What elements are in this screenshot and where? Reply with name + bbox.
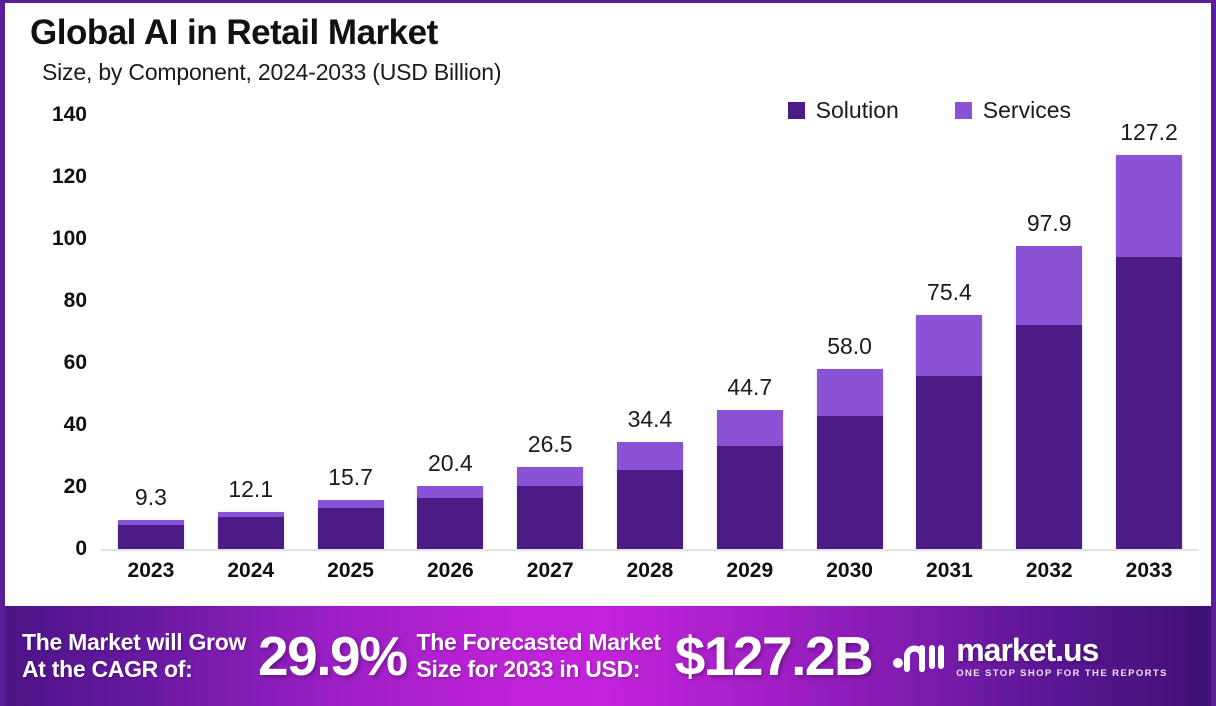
bar-value-label: 15.7 bbox=[328, 464, 373, 491]
header: Global AI in Retail Market Size, by Comp… bbox=[5, 3, 1211, 86]
bar-column-2030[interactable]: 58.0 bbox=[800, 115, 900, 549]
bar-column-2031[interactable]: 75.4 bbox=[900, 115, 1000, 549]
bar-column-2025[interactable]: 15.7 bbox=[301, 115, 401, 549]
forecast-caption: The Forecasted Market Size for 2033 in U… bbox=[417, 629, 661, 683]
x-axis-tick-label: 2024 bbox=[201, 559, 301, 583]
x-axis-tick-label: 2030 bbox=[800, 559, 900, 583]
plot-area: 9.312.115.720.426.534.444.758.075.497.91… bbox=[101, 115, 1199, 549]
stacked-bar[interactable] bbox=[118, 520, 184, 549]
bar-value-label: 9.3 bbox=[135, 484, 167, 511]
forecast-caption-line2: Size for 2033 in USD: bbox=[417, 656, 641, 682]
x-axis-tick-label: 2026 bbox=[400, 559, 500, 583]
y-axis-tick-label: 120 bbox=[52, 165, 87, 189]
x-axis-tick-label: 2023 bbox=[101, 559, 201, 583]
x-axis: 2023202420252026202720282029203020312032… bbox=[101, 559, 1199, 583]
x-axis-tick-label: 2032 bbox=[999, 559, 1099, 583]
bar-column-2029[interactable]: 44.7 bbox=[700, 115, 800, 549]
bar-column-2026[interactable]: 20.4 bbox=[400, 115, 500, 549]
bar-column-2024[interactable]: 12.1 bbox=[201, 115, 301, 549]
stacked-bar[interactable] bbox=[1116, 155, 1182, 549]
bar-segment-services[interactable] bbox=[1116, 155, 1182, 258]
cagr-block: The Market will Grow At the CAGR of: 29.… bbox=[22, 624, 417, 688]
bar-segment-services[interactable] bbox=[417, 486, 483, 498]
bar-segment-solution[interactable] bbox=[218, 517, 284, 549]
page-title: Global AI in Retail Market bbox=[30, 13, 1211, 53]
bar-segment-services[interactable] bbox=[817, 369, 883, 416]
x-axis-tick-label: 2025 bbox=[301, 559, 401, 583]
stacked-bar[interactable] bbox=[517, 467, 583, 549]
y-axis-tick-label: 60 bbox=[64, 351, 87, 375]
forecast-caption-line1: The Forecasted Market bbox=[417, 629, 661, 655]
bar-column-2033[interactable]: 127.2 bbox=[1099, 115, 1199, 549]
y-axis-tick-label: 140 bbox=[52, 103, 87, 127]
cagr-caption-line1: The Market will Grow bbox=[22, 629, 246, 655]
y-axis: 020406080100120140 bbox=[5, 115, 93, 549]
bar-value-label: 127.2 bbox=[1120, 119, 1178, 146]
y-axis-tick-label: 20 bbox=[64, 475, 87, 499]
logo-name: market.us bbox=[956, 634, 1168, 666]
stacked-bar[interactable] bbox=[817, 369, 883, 549]
x-axis-tick-label: 2033 bbox=[1099, 559, 1199, 583]
bar-segment-services[interactable] bbox=[318, 500, 384, 508]
x-axis-tick-label: 2029 bbox=[700, 559, 800, 583]
bar-segment-solution[interactable] bbox=[417, 498, 483, 549]
bar-segment-services[interactable] bbox=[1016, 246, 1082, 325]
stacked-bar[interactable] bbox=[617, 442, 683, 549]
market-us-logo-text: market.us ONE STOP SHOP FOR THE REPORTS bbox=[956, 634, 1168, 679]
infographic-root: Global AI in Retail Market Size, by Comp… bbox=[0, 0, 1216, 706]
market-us-logo[interactable]: market.us ONE STOP SHOP FOR THE REPORTS bbox=[892, 634, 1168, 679]
bar-segment-solution[interactable] bbox=[318, 508, 384, 549]
y-axis-tick-label: 40 bbox=[64, 413, 87, 437]
bar-segment-solution[interactable] bbox=[1016, 325, 1082, 549]
stacked-bar[interactable] bbox=[1016, 246, 1082, 549]
bar-segment-solution[interactable] bbox=[1116, 257, 1182, 549]
logo-tagline: ONE STOP SHOP FOR THE REPORTS bbox=[956, 669, 1168, 679]
bar-segment-solution[interactable] bbox=[517, 486, 583, 549]
chart-area: 020406080100120140 9.312.115.720.426.534… bbox=[5, 115, 1211, 605]
bar-segment-services[interactable] bbox=[717, 410, 783, 446]
bar-value-label: 26.5 bbox=[528, 431, 573, 458]
x-axis-tick-label: 2031 bbox=[900, 559, 1000, 583]
stacked-bar[interactable] bbox=[318, 500, 384, 549]
y-axis-tick-label: 80 bbox=[64, 289, 87, 313]
forecast-block: The Forecasted Market Size for 2033 in U… bbox=[417, 624, 879, 688]
bar-value-label: 75.4 bbox=[927, 279, 972, 306]
bar-value-label: 97.9 bbox=[1027, 210, 1072, 237]
cagr-caption: The Market will Grow At the CAGR of: bbox=[22, 629, 246, 683]
footer-banner: The Market will Grow At the CAGR of: 29.… bbox=[0, 606, 1216, 706]
cagr-caption-line2: At the CAGR of: bbox=[22, 656, 193, 682]
bar-value-label: 58.0 bbox=[827, 333, 872, 360]
y-axis-tick-label: 0 bbox=[75, 537, 87, 561]
stacked-bar[interactable] bbox=[218, 512, 284, 550]
bar-column-2028[interactable]: 34.4 bbox=[600, 115, 700, 549]
bar-value-label: 12.1 bbox=[228, 476, 273, 503]
bar-column-2023[interactable]: 9.3 bbox=[101, 115, 201, 549]
cagr-value: 29.9% bbox=[258, 624, 406, 688]
bar-value-label: 20.4 bbox=[428, 450, 473, 477]
x-axis-tick-label: 2027 bbox=[500, 559, 600, 583]
bar-segment-services[interactable] bbox=[617, 442, 683, 470]
bar-segment-services[interactable] bbox=[916, 315, 982, 376]
stacked-bar[interactable] bbox=[916, 315, 982, 549]
bar-column-2032[interactable]: 97.9 bbox=[999, 115, 1099, 549]
market-us-logo-icon bbox=[892, 636, 946, 676]
y-axis-tick-label: 100 bbox=[52, 227, 87, 251]
page-subtitle: Size, by Component, 2024-2033 (USD Billi… bbox=[42, 59, 1211, 86]
forecast-value: $127.2B bbox=[675, 624, 872, 688]
bar-segment-services[interactable] bbox=[517, 467, 583, 486]
stacked-bar[interactable] bbox=[717, 410, 783, 549]
bar-segment-solution[interactable] bbox=[916, 376, 982, 549]
x-axis-line bbox=[101, 549, 1199, 551]
x-axis-tick-label: 2028 bbox=[600, 559, 700, 583]
bar-value-label: 34.4 bbox=[628, 406, 673, 433]
bar-segment-solution[interactable] bbox=[617, 470, 683, 549]
bar-group: 9.312.115.720.426.534.444.758.075.497.91… bbox=[101, 115, 1199, 549]
bar-segment-solution[interactable] bbox=[717, 446, 783, 549]
bar-column-2027[interactable]: 26.5 bbox=[500, 115, 600, 549]
bar-value-label: 44.7 bbox=[727, 374, 772, 401]
bar-segment-solution[interactable] bbox=[817, 416, 883, 549]
bar-segment-solution[interactable] bbox=[118, 525, 184, 549]
stacked-bar[interactable] bbox=[417, 486, 483, 549]
